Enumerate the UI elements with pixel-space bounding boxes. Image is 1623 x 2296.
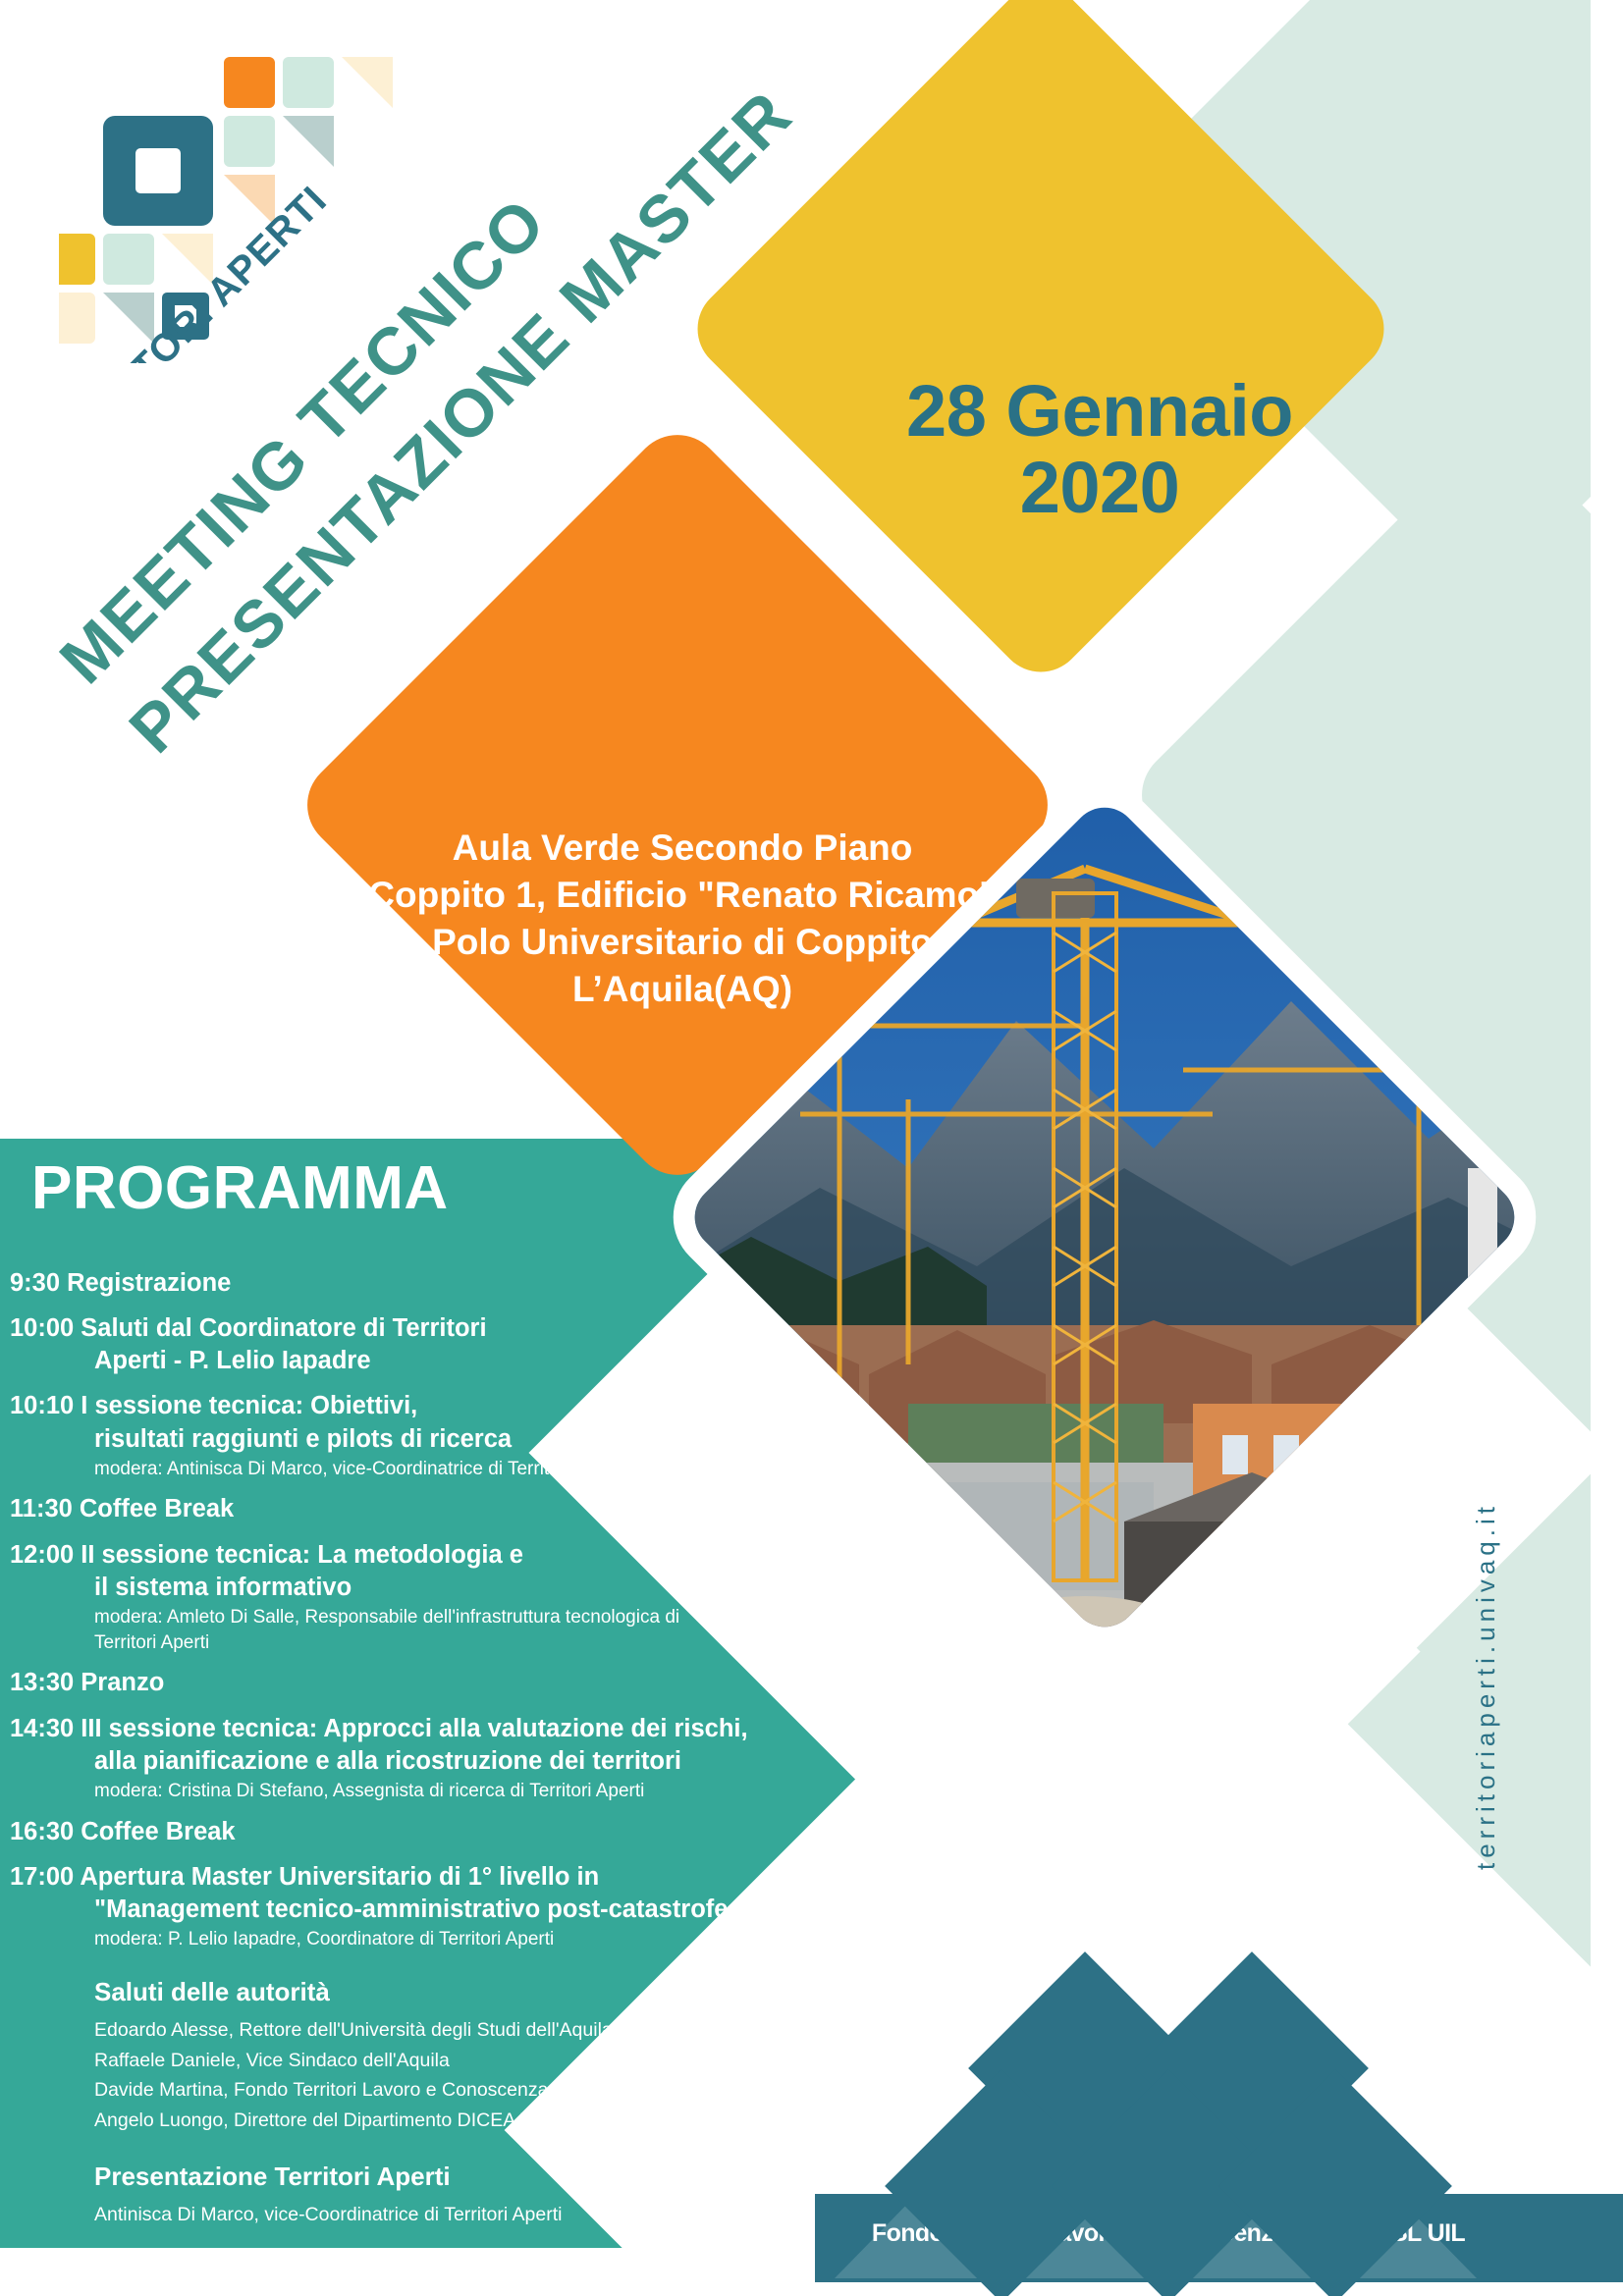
event-date-year: 2020 — [825, 450, 1375, 526]
programme-block-line: Edoardo Alesse, Rettore dell'Università … — [10, 2015, 1011, 2046]
schedule-line: alla pianificazione e alla ricostruzione… — [10, 1745, 1011, 1778]
programme-block-line: Angelo Luongo, Direttore del Dipartiment… — [10, 2106, 1011, 2136]
venue-line-2: Coppito 1, Edificio "Renato Ricamo" — [295, 872, 1070, 919]
schedule-line: 16:30 Coffee Break — [10, 1816, 1011, 1848]
schedule-item: 14:30 III sessione tecnica: Approcci all… — [10, 1713, 1011, 1803]
programme-block-line: Raffaele Daniele, Vice Sindaco dell'Aqui… — [10, 2046, 1011, 2076]
schedule-item: 11:30 Coffee Break — [10, 1493, 1011, 1525]
schedule-moderator: modera: P. Lelio Iapadre, Coordinatore d… — [10, 1928, 1011, 1951]
schedule-line: 13:30 Pranzo — [10, 1667, 1011, 1699]
schedule-line: 10:00 Saluti dal Coordinatore di Territo… — [10, 1312, 1011, 1345]
programme-schedule-list: 9:30 Registrazione10:00 Saluti dal Coord… — [10, 1267, 1011, 1951]
schedule-moderator: Territori Aperti — [10, 1631, 1011, 1655]
website-url[interactable]: territoriaperti.univaq.it — [1471, 1502, 1501, 1870]
programme-section: PROGRAMMA 9:30 Registrazione10:00 Saluti… — [10, 1153, 1011, 2296]
right-margin-mask — [1591, 0, 1623, 2296]
schedule-line: 17:00 Apertura Master Universitario di 1… — [10, 1861, 1011, 1894]
schedule-moderator: modera: Amleto Di Salle, Responsabile de… — [10, 1606, 1011, 1629]
schedule-line: il sistema informativo — [10, 1572, 1011, 1604]
partner-logos: UNIVERSITÀ DEGLI STUDI DELL'AQUILA Comun… — [864, 1973, 1414, 2296]
programme-block-heading: Saluti delle autorità — [10, 1977, 1011, 2007]
schedule-item: 13:30 Pranzo — [10, 1667, 1011, 1699]
schedule-line: 14:30 III sessione tecnica: Approcci all… — [10, 1713, 1011, 1745]
schedule-item: 10:00 Saluti dal Coordinatore di Territo… — [10, 1312, 1011, 1377]
schedule-line: 10:10 I sessione tecnica: Obiettivi, — [10, 1390, 1011, 1422]
schedule-line: 9:30 Registrazione — [10, 1267, 1011, 1300]
territori-aperti-logo: TERRITORI APERTI — [59, 39, 393, 363]
schedule-item: 16:30 Coffee Break — [10, 1816, 1011, 1848]
programme-heading: PROGRAMMA — [31, 1153, 1011, 1223]
schedule-item: 12:00 II sessione tecnica: La metodologi… — [10, 1539, 1011, 1655]
venue-line-1: Aula Verde Secondo Piano — [295, 825, 1070, 872]
schedule-line: 11:30 Coffee Break — [10, 1493, 1011, 1525]
schedule-item: 17:00 Apertura Master Universitario di 1… — [10, 1861, 1011, 1951]
schedule-item: 9:30 Registrazione — [10, 1267, 1011, 1300]
schedule-line: "Management tecnico-amministrativo post-… — [10, 1894, 1011, 1926]
schedule-moderator: modera: Antinisca Di Marco, vice-Coordin… — [10, 1458, 1011, 1481]
event-date: 28 Gennaio 2020 — [825, 373, 1375, 527]
schedule-line: 12:00 II sessione tecnica: La metodologi… — [10, 1539, 1011, 1572]
schedule-item: 10:10 I sessione tecnica: Obiettivi,risu… — [10, 1390, 1011, 1480]
schedule-line: risultati raggiunti e pilots di ricerca — [10, 1423, 1011, 1456]
programme-block-line: Davide Martina, Fondo Territori Lavoro e… — [10, 2075, 1011, 2106]
schedule-line: Aperti - P. Lelio Iapadre — [10, 1345, 1011, 1377]
schedule-moderator: modera: Cristina Di Stefano, Assegnista … — [10, 1780, 1011, 1803]
event-date-day-month: 28 Gennaio — [825, 373, 1375, 450]
poster-canvas: TERRITORI APERTI MEETING TECNICO PRESENT… — [0, 0, 1623, 2296]
